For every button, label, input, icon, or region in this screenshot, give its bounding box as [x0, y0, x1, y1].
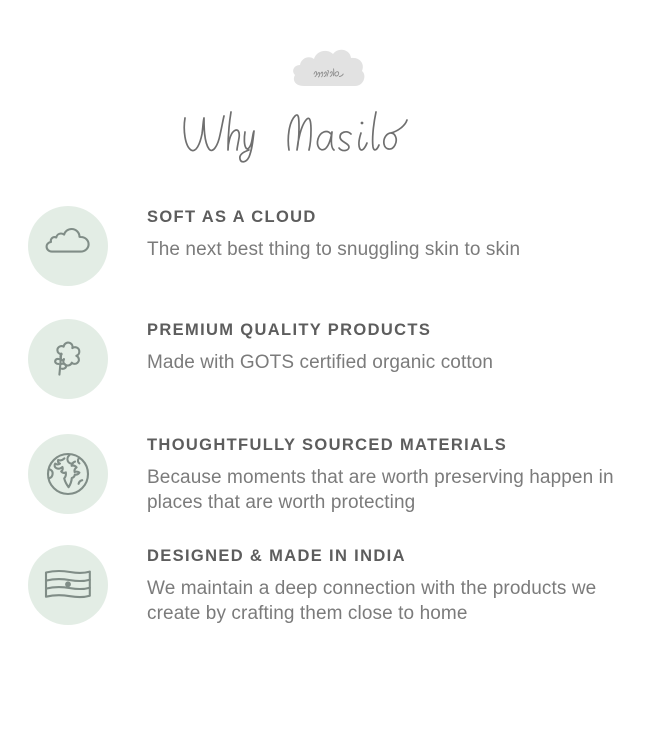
globe-icon: [45, 451, 91, 497]
cloud-icon: [44, 227, 92, 265]
feature-title: PREMIUM QUALITY PRODUCTS: [147, 321, 640, 341]
feature-icon-circle: [28, 545, 108, 625]
masilo-cloud-logo-icon: [290, 44, 368, 90]
feature-text: THOUGHTFULLY SOURCED MATERIALS Because m…: [108, 428, 640, 515]
feature-item-premium-quality-products: PREMIUM QUALITY PRODUCTS Made with GOTS …: [28, 313, 640, 399]
feature-item-designed-made-in-india: DESIGNED & MADE IN INDIA We maintain a d…: [28, 539, 640, 626]
feature-description: Because moments that are worth preservin…: [147, 465, 625, 516]
india-flag-icon: [43, 566, 93, 604]
feature-item-soft-as-a-cloud: SOFT AS A CLOUD The next best thing to s…: [28, 200, 640, 286]
feature-icon-circle: [28, 434, 108, 514]
feature-title: THOUGHTFULLY SOURCED MATERIALS: [147, 436, 640, 456]
feature-icon-circle: [28, 206, 108, 286]
feature-item-thoughtfully-sourced-materials: THOUGHTFULLY SOURCED MATERIALS Because m…: [28, 428, 640, 515]
brand-logo[interactable]: [0, 0, 658, 90]
cotton-boll-icon: [47, 336, 89, 382]
feature-list: SOFT AS A CLOUD The next best thing to s…: [0, 200, 658, 627]
feature-description: We maintain a deep connection with the p…: [147, 576, 625, 627]
feature-title: DESIGNED & MADE IN INDIA: [147, 547, 640, 567]
feature-icon-circle: [28, 319, 108, 399]
feature-text: PREMIUM QUALITY PRODUCTS Made with GOTS …: [108, 313, 640, 375]
feature-description: The next best thing to snuggling skin to…: [147, 237, 625, 262]
feature-text: DESIGNED & MADE IN INDIA We maintain a d…: [108, 539, 640, 626]
page-title: [0, 104, 658, 166]
feature-text: SOFT AS A CLOUD The next best thing to s…: [108, 200, 640, 262]
feature-description: Made with GOTS certified organic cotton: [147, 350, 625, 375]
feature-title: SOFT AS A CLOUD: [147, 208, 640, 228]
